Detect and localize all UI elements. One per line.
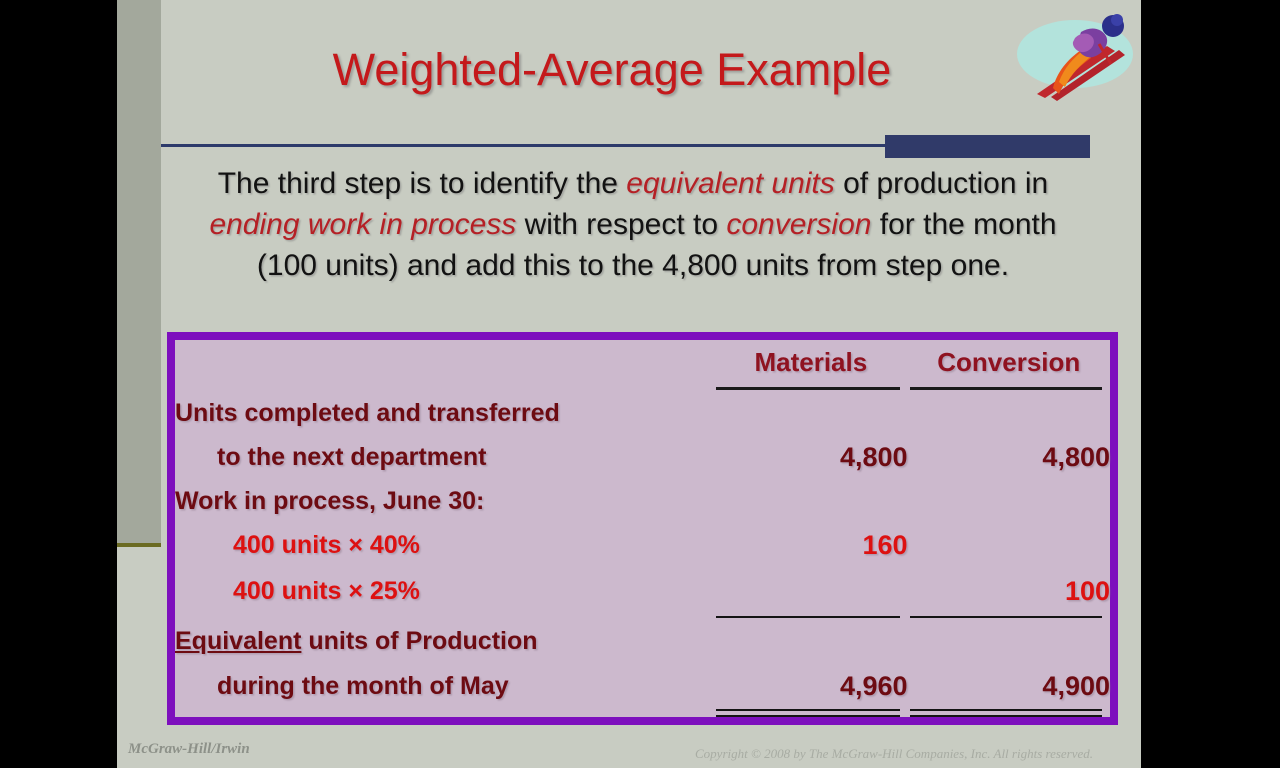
total-rule-materials bbox=[714, 709, 907, 717]
equivalent-units-table-panel: Materials Conversion Units completed and… bbox=[167, 332, 1118, 725]
row-label-equivalent-rest: units of Production bbox=[301, 627, 537, 655]
footer-publisher: McGraw-Hill/Irwin bbox=[128, 741, 250, 758]
row-label-units-completed-line1: Units completed and transferred bbox=[175, 392, 714, 435]
table-row: during the month of May 4,960 4,900 bbox=[175, 663, 1110, 709]
body-paragraph: The third step is to identify the equiva… bbox=[183, 163, 1083, 286]
left-accent-band bbox=[117, 0, 161, 546]
row-label-equivalent-units-line1: Equivalent units of Production bbox=[175, 620, 714, 663]
value-materials-total: 4,960 bbox=[714, 663, 907, 709]
presentation-slide: Weighted-Average Example The bbox=[117, 0, 1141, 768]
table-row: 400 units × 25% 100 bbox=[175, 569, 1110, 615]
table-row: Work in process, June 30: bbox=[175, 480, 1110, 523]
left-accent-band-rule bbox=[117, 543, 161, 547]
page-title: Weighted-Average Example bbox=[177, 44, 1047, 96]
value-conversion-units-completed: 4,800 bbox=[908, 434, 1110, 480]
table-row: 400 units × 40% 160 bbox=[175, 523, 1110, 569]
value-conversion-wip bbox=[908, 480, 1110, 523]
column-header-conversion: Conversion bbox=[908, 340, 1110, 386]
row-label-units-completed-line2: to the next department bbox=[175, 434, 714, 480]
table-row: Equivalent units of Production bbox=[175, 620, 1110, 663]
value-materials-wip bbox=[714, 480, 907, 523]
value-conversion-blank-40 bbox=[908, 523, 1110, 569]
body-seg-3: with respect to bbox=[516, 208, 726, 241]
row-label-equivalent-underlined: Equivalent bbox=[175, 627, 301, 655]
table-row: Units completed and transferred bbox=[175, 392, 1110, 435]
total-rule-conversion bbox=[908, 709, 1110, 717]
row-label-400-units-25-percent: 400 units × 25% bbox=[175, 569, 714, 615]
value-conversion-total: 4,900 bbox=[908, 663, 1110, 709]
value-materials-blank-25 bbox=[714, 569, 907, 615]
value-materials-160: 160 bbox=[714, 523, 907, 569]
title-accent-block bbox=[885, 135, 1090, 158]
table-total-rule-row bbox=[175, 709, 1110, 717]
table-header-row: Materials Conversion bbox=[175, 340, 1110, 386]
header-blank-cell bbox=[175, 340, 714, 386]
value-materials-units-completed: 4,800 bbox=[714, 434, 907, 480]
column-header-materials: Materials bbox=[714, 340, 907, 386]
skier-logo bbox=[1007, 2, 1141, 106]
row-label-400-units-40-percent: 400 units × 40% bbox=[175, 523, 714, 569]
body-seg-1: The third step is to identify the bbox=[218, 167, 627, 200]
row-label-work-in-process: Work in process, June 30: bbox=[175, 480, 714, 523]
value-conversion-100: 100 bbox=[908, 569, 1110, 615]
title-divider-line bbox=[161, 144, 891, 147]
row-label-equivalent-units-line2: during the month of May bbox=[175, 663, 714, 709]
body-emphasis-ending-wip: ending work in process bbox=[209, 208, 516, 241]
screen: Weighted-Average Example The bbox=[0, 0, 1280, 768]
body-emphasis-conversion: conversion bbox=[726, 208, 871, 241]
body-seg-2: of production in bbox=[835, 167, 1048, 200]
body-emphasis-equivalent-units: equivalent units bbox=[626, 167, 834, 200]
table-row: to the next department 4,800 4,800 bbox=[175, 434, 1110, 480]
footer-copyright: Copyright © 2008 by The McGraw-Hill Comp… bbox=[695, 746, 1093, 762]
equivalent-units-table: Materials Conversion Units completed and… bbox=[175, 340, 1110, 717]
